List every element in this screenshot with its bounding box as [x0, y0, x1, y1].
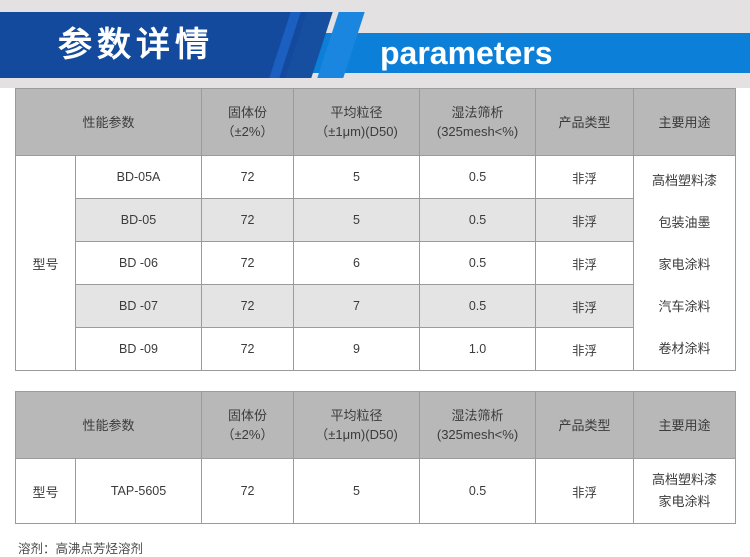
- cell-wet-sieve: 0.5: [420, 199, 536, 242]
- cell-wet-sieve: 0.5: [420, 156, 536, 199]
- cell-main-use: 高档塑料漆: [634, 158, 735, 200]
- header-mean-particle-size: 平均粒径 （±1μm)(D50): [294, 392, 420, 459]
- cell-product-type: 非浮: [536, 328, 634, 371]
- header-solid-content-label: 固体份: [203, 406, 292, 425]
- header-main-use: 主要用途: [634, 392, 736, 459]
- header-solid-content: 固体份 （±2%）: [202, 89, 294, 156]
- row-group-label-model: 型号: [16, 459, 76, 524]
- banner-title-en: parameters: [380, 30, 553, 76]
- cell-wet-sieve: 1.0: [420, 328, 536, 371]
- cell-main-use-line-2: 家电涂料: [635, 491, 734, 513]
- table-row: BD-05 72 5 0.5 非浮: [16, 199, 736, 242]
- header-mean-particle-size: 平均粒径 （±1μm)(D50): [294, 89, 420, 156]
- header-mean-particle-size-label: 平均粒径: [295, 406, 418, 425]
- cell-mean-particle-size: 5: [294, 156, 420, 199]
- cell-mean-particle-size: 5: [294, 199, 420, 242]
- cell-mean-particle-size: 7: [294, 285, 420, 328]
- cell-model: BD -06: [76, 242, 202, 285]
- cell-product-type: 非浮: [536, 156, 634, 199]
- cell-main-use: 高档塑料漆 家电涂料: [634, 459, 736, 524]
- page-banner: 参数详情 parameters: [0, 0, 750, 88]
- cell-mean-particle-size: 6: [294, 242, 420, 285]
- main-use-row: 卷材涂料: [634, 326, 735, 368]
- main-use-inner-table: 高档塑料漆 包装油墨 家电涂料 汽车涂料 卷材涂料: [634, 158, 735, 368]
- cell-solid-content: 72: [202, 285, 294, 328]
- table-row: 型号 BD-05A 72 5 0.5 非浮 高档塑料漆 包装油墨 家电涂料 汽车…: [16, 156, 736, 199]
- cell-solid-content: 72: [202, 156, 294, 199]
- cell-main-use: 汽车涂料: [634, 284, 735, 326]
- header-mean-particle-size-label: 平均粒径: [295, 103, 418, 122]
- cell-model: BD -09: [76, 328, 202, 371]
- cell-wet-sieve: 0.5: [420, 459, 536, 524]
- cell-main-use-group: 高档塑料漆 包装油墨 家电涂料 汽车涂料 卷材涂料: [634, 156, 736, 371]
- header-product-type: 产品类型: [536, 89, 634, 156]
- header-wet-sieve-tolerance: (325mesh<%): [421, 425, 534, 444]
- header-product-type: 产品类型: [536, 392, 634, 459]
- cell-model: BD -07: [76, 285, 202, 328]
- table-header-row: 性能参数 固体份 （±2%） 平均粒径 （±1μm)(D50) 湿法筛析 (32…: [16, 392, 736, 459]
- header-wet-sieve: 湿法筛析 (325mesh<%): [420, 392, 536, 459]
- header-performance-parameters: 性能参数: [16, 89, 202, 156]
- cell-main-use: 家电涂料: [634, 242, 735, 284]
- table-row: BD -07 72 7 0.5 非浮: [16, 285, 736, 328]
- header-wet-sieve: 湿法筛析 (325mesh<%): [420, 89, 536, 156]
- cell-solid-content: 72: [202, 199, 294, 242]
- spec-table-1-wrap: 性能参数 固体份 （±2%） 平均粒径 （±1μm)(D50) 湿法筛析 (32…: [15, 88, 735, 371]
- header-wet-sieve-tolerance: (325mesh<%): [421, 122, 534, 141]
- cell-mean-particle-size: 9: [294, 328, 420, 371]
- header-solid-content-tolerance: （±2%）: [203, 425, 292, 444]
- main-use-row: 包装油墨: [634, 200, 735, 242]
- main-use-row: 高档塑料漆: [634, 158, 735, 200]
- spec-table-2-wrap: 性能参数 固体份 （±2%） 平均粒径 （±1μm)(D50) 湿法筛析 (32…: [15, 391, 735, 524]
- cell-solid-content: 72: [202, 328, 294, 371]
- table-row: 型号 TAP-5605 72 5 0.5 非浮 高档塑料漆 家电涂料: [16, 459, 736, 524]
- header-mean-particle-size-tolerance: （±1μm)(D50): [295, 122, 418, 141]
- cell-wet-sieve: 0.5: [420, 242, 536, 285]
- cell-product-type: 非浮: [536, 199, 634, 242]
- header-wet-sieve-label: 湿法筛析: [421, 103, 534, 122]
- cell-solid-content: 72: [202, 459, 294, 524]
- spec-table-1: 性能参数 固体份 （±2%） 平均粒径 （±1μm)(D50) 湿法筛析 (32…: [15, 88, 736, 371]
- spec-table-2: 性能参数 固体份 （±2%） 平均粒径 （±1μm)(D50) 湿法筛析 (32…: [15, 391, 736, 524]
- cell-solid-content: 72: [202, 242, 294, 285]
- header-wet-sieve-label: 湿法筛析: [421, 406, 534, 425]
- main-use-row: 汽车涂料: [634, 284, 735, 326]
- header-main-use: 主要用途: [634, 89, 736, 156]
- banner-title-cn: 参数详情: [58, 18, 214, 72]
- cell-product-type: 非浮: [536, 459, 634, 524]
- cell-product-type: 非浮: [536, 285, 634, 328]
- header-performance-parameters: 性能参数: [16, 392, 202, 459]
- header-solid-content: 固体份 （±2%）: [202, 392, 294, 459]
- cell-main-use: 包装油墨: [634, 200, 735, 242]
- table-row: BD -06 72 6 0.5 非浮: [16, 242, 736, 285]
- cell-model: TAP-5605: [76, 459, 202, 524]
- cell-product-type: 非浮: [536, 242, 634, 285]
- table-header-row: 性能参数 固体份 （±2%） 平均粒径 （±1μm)(D50) 湿法筛析 (32…: [16, 89, 736, 156]
- header-solid-content-label: 固体份: [203, 103, 292, 122]
- cell-main-use: 卷材涂料: [634, 326, 735, 368]
- cell-main-use-line-1: 高档塑料漆: [635, 469, 734, 491]
- header-mean-particle-size-tolerance: （±1μm)(D50): [295, 425, 418, 444]
- header-solid-content-tolerance: （±2%）: [203, 122, 292, 141]
- cell-wet-sieve: 0.5: [420, 285, 536, 328]
- cell-model: BD-05A: [76, 156, 202, 199]
- table-row: BD -09 72 9 1.0 非浮: [16, 328, 736, 371]
- table-gap-divider: [0, 371, 750, 391]
- cell-model: BD-05: [76, 199, 202, 242]
- main-use-row: 家电涂料: [634, 242, 735, 284]
- cell-mean-particle-size: 5: [294, 459, 420, 524]
- row-group-label-model: 型号: [16, 156, 76, 371]
